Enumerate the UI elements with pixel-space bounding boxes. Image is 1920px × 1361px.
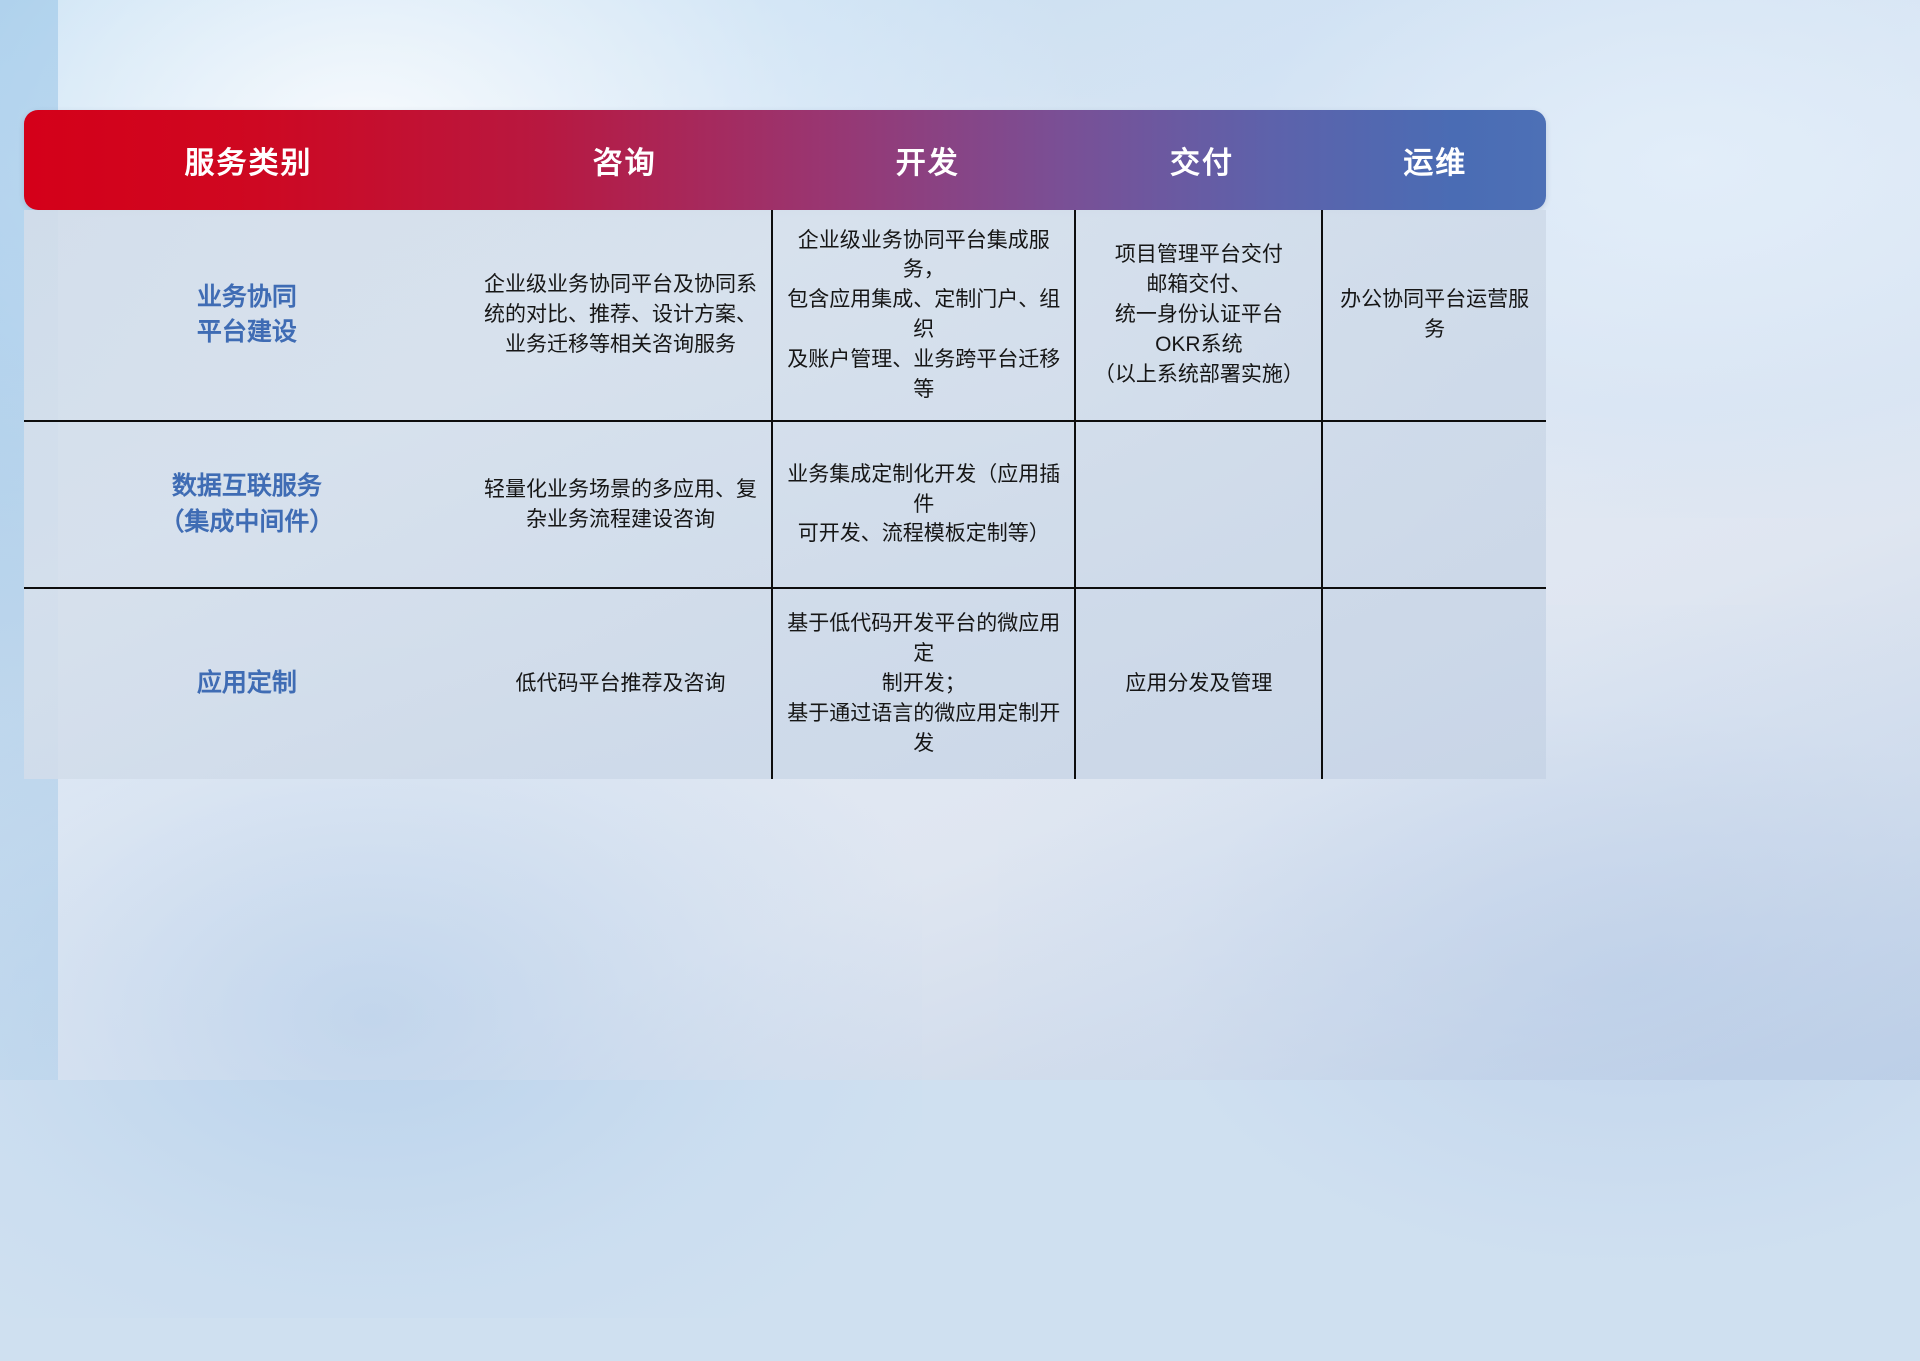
consulting-text: 企业级业务协同平台及协同系 统的对比、推荐、设计方案、 业务迁移等相关咨询服务 xyxy=(484,270,757,359)
column-header-consulting[interactable]: 咨询 xyxy=(473,110,776,210)
category-label: 数据互联服务 （集成中间件） xyxy=(159,469,334,540)
operations-text: 办公协同平台运营服务 xyxy=(1337,285,1532,345)
column-header-delivery[interactable]: 交付 xyxy=(1079,110,1324,210)
table-row: 业务协同 平台建设 企业级业务协同平台及协同系 统的对比、推荐、设计方案、 业务… xyxy=(24,210,1546,422)
service-matrix-table: 服务类别 咨询 开发 交付 运维 业务协同 平台建设 企业级业务协同平台及协同系… xyxy=(24,110,1546,779)
consulting-text: 低代码平台推荐及咨询 xyxy=(515,669,725,699)
cell-delivery: 项目管理平台交付 邮箱交付、 统一身份认证平台 OKR系统 （以上系统部署实施） xyxy=(1076,210,1323,420)
table-row: 应用定制 低代码平台推荐及咨询 基于低代码开发平台的微应用定 制开发； 基于通过… xyxy=(24,589,1546,779)
cell-operations xyxy=(1323,422,1546,587)
column-header-operations[interactable]: 运维 xyxy=(1325,110,1546,210)
cell-consulting: 低代码平台推荐及咨询 xyxy=(470,589,773,779)
delivery-text: 项目管理平台交付 邮箱交付、 统一身份认证平台 OKR系统 （以上系统部署实施） xyxy=(1094,240,1304,389)
cell-category: 业务协同 平台建设 xyxy=(24,210,470,420)
column-header-consulting-label: 咨询 xyxy=(593,138,657,182)
cell-category: 数据互联服务 （集成中间件） xyxy=(24,422,470,587)
category-label: 应用定制 xyxy=(197,666,297,702)
column-header-development[interactable]: 开发 xyxy=(776,110,1079,210)
table-body: 业务协同 平台建设 企业级业务协同平台及协同系 统的对比、推荐、设计方案、 业务… xyxy=(24,210,1546,779)
consulting-text: 轻量化业务场景的多应用、复 杂业务流程建设咨询 xyxy=(484,475,757,535)
development-text: 企业级业务协同平台集成服务， 包含应用集成、定制门户、组织 及账户管理、业务跨平… xyxy=(787,226,1060,405)
table-row: 数据互联服务 （集成中间件） 轻量化业务场景的多应用、复 杂业务流程建设咨询 业… xyxy=(24,422,1546,589)
cell-category: 应用定制 xyxy=(24,589,470,779)
column-header-category[interactable]: 服务类别 xyxy=(24,110,473,210)
table-header-row: 服务类别 咨询 开发 交付 运维 xyxy=(24,110,1546,210)
category-label: 业务协同 平台建设 xyxy=(197,280,297,351)
column-header-category-label: 服务类别 xyxy=(185,138,313,182)
cell-delivery xyxy=(1076,422,1323,587)
cell-operations: 办公协同平台运营服务 xyxy=(1323,210,1546,420)
column-header-development-label: 开发 xyxy=(896,138,960,182)
cell-delivery: 应用分发及管理 xyxy=(1076,589,1323,779)
cell-development: 企业级业务协同平台集成服务， 包含应用集成、定制门户、组织 及账户管理、业务跨平… xyxy=(773,210,1076,420)
development-text: 基于低代码开发平台的微应用定 制开发； 基于通过语言的微应用定制开发 xyxy=(787,609,1060,758)
cell-operations xyxy=(1323,589,1546,779)
cell-development: 业务集成定制化开发（应用插件 可开发、流程模板定制等） xyxy=(773,422,1076,587)
cell-consulting: 轻量化业务场景的多应用、复 杂业务流程建设咨询 xyxy=(470,422,773,587)
cell-development: 基于低代码开发平台的微应用定 制开发； 基于通过语言的微应用定制开发 xyxy=(773,589,1076,779)
column-header-delivery-label: 交付 xyxy=(1170,138,1234,182)
delivery-text: 应用分发及管理 xyxy=(1125,669,1272,699)
development-text: 业务集成定制化开发（应用插件 可开发、流程模板定制等） xyxy=(787,460,1060,549)
column-header-operations-label: 运维 xyxy=(1403,138,1467,182)
cell-consulting: 企业级业务协同平台及协同系 统的对比、推荐、设计方案、 业务迁移等相关咨询服务 xyxy=(470,210,773,420)
